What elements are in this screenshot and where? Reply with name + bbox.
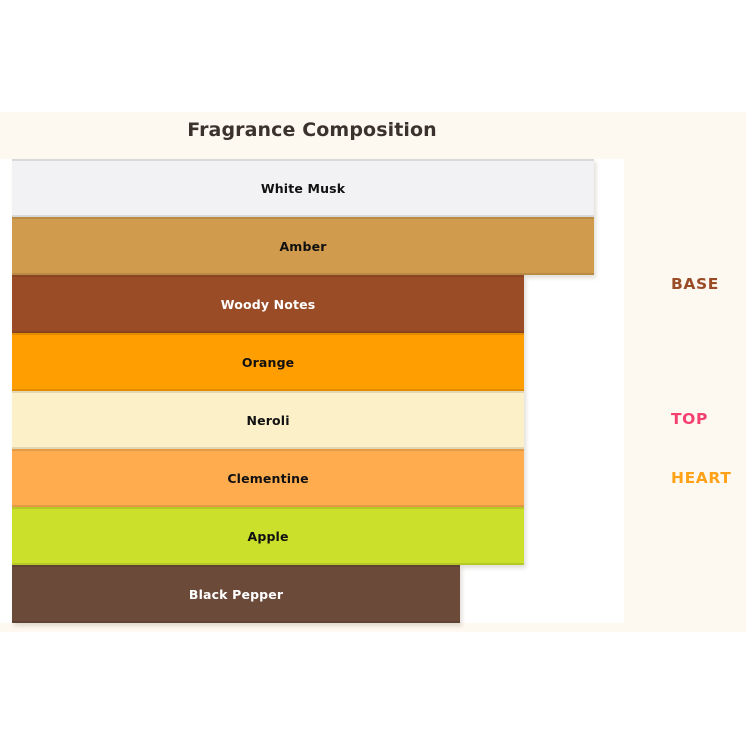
bar-label: Clementine [12,449,524,507]
bar-row[interactable]: White Musk [12,159,594,217]
bar-row[interactable]: Clementine [12,449,524,507]
bar-row[interactable]: Orange [12,333,524,391]
chart-title: Fragrance Composition [0,119,624,141]
bar-label: Apple [12,507,524,565]
bar-row[interactable]: Neroli [12,391,524,449]
stage-label-heart: HEART [671,469,731,487]
bar-label: Neroli [12,391,524,449]
bar-row[interactable]: Apple [12,507,524,565]
bar-label: Woody Notes [12,275,524,333]
bar-label: Black Pepper [12,565,460,623]
bar-row[interactable]: Amber [12,217,594,275]
bar-row[interactable]: Woody Notes [12,275,524,333]
stage-label-base: BASE [671,275,719,293]
bar-label: White Musk [12,159,594,217]
bar-label: Orange [12,333,524,391]
bar-label: Amber [12,217,594,275]
figure-card: Fragrance Composition White MuskAmberWoo… [0,112,746,632]
plot-area: White MuskAmberWoody NotesOrangeNeroliCl… [0,159,624,623]
bar-row[interactable]: Black Pepper [12,565,460,623]
stage-label-top: TOP [671,410,708,428]
